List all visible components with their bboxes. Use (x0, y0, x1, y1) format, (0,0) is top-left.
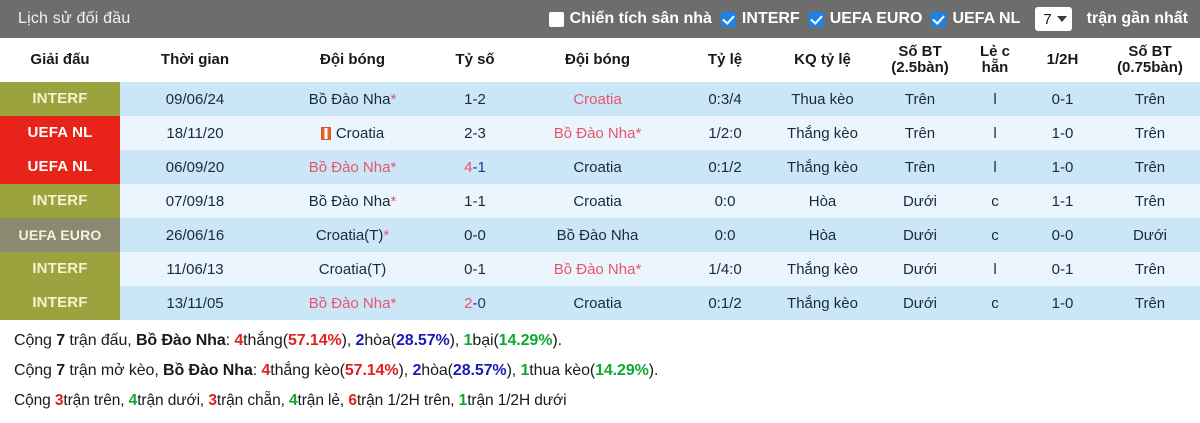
cell-odds-result: Hòa (770, 218, 875, 252)
score-away: -1 (473, 159, 486, 176)
s3-prefix: Cộng (14, 392, 55, 409)
table-row[interactable]: INTERF09/06/24Bồ Đào Nha*1-2Croatia0:3/4… (0, 82, 1200, 116)
table-header-row: Giải đấu Thời gian Đội bóng Tỷ số Đội bó… (0, 38, 1200, 82)
cell-total-goals-075: Dưới (1100, 218, 1200, 252)
league-badge: INTERF (0, 184, 120, 218)
cell-odds: 0:3/4 (680, 82, 770, 116)
col-header-away: Đội bóng (515, 38, 680, 82)
checkbox-interf[interactable] (721, 12, 736, 27)
s3-under-count: 4 (129, 392, 138, 409)
s1-total: 7 (56, 332, 65, 349)
filter-interf[interactable]: INTERF (721, 10, 800, 28)
s2-sep2: ), (507, 362, 521, 379)
s1-loss-pct: 14.29% (499, 332, 553, 349)
cell-odds: 0:0 (680, 184, 770, 218)
cell-total-goals-075: Trên (1100, 116, 1200, 150)
s2-team: Bồ Đào Nha (163, 362, 253, 379)
home-team-name: Croatia(T) (319, 261, 387, 278)
summary-line-totals: Cộng 3trận trên, 4trận dưới, 3trận chẵn,… (14, 386, 1200, 416)
filter-uefa-nl[interactable]: UEFA NL (931, 10, 1020, 28)
away-team-name: Croatia (573, 159, 621, 176)
cell-league: INTERF (0, 82, 120, 116)
cell-league: UEFA EURO (0, 218, 120, 252)
s2-wins-pct: 57.14% (345, 362, 399, 379)
s3-over-label: trận trên, (63, 392, 128, 409)
cell-league: INTERF (0, 286, 120, 320)
league-badge: INTERF (0, 252, 120, 286)
s2-mid: trận mở kèo, (65, 362, 163, 379)
col-header-league: Giải đấu (0, 38, 120, 82)
cell-time: 13/11/05 (120, 286, 270, 320)
cell-total-goals-25: Dưới (875, 218, 965, 252)
cell-odds: 1/2:0 (680, 116, 770, 150)
home-host-star-icon: * (390, 193, 396, 210)
filter-label-interf: INTERF (742, 10, 800, 28)
s1-prefix: Cộng (14, 332, 56, 349)
col-header-time: Thời gian (120, 38, 270, 82)
s2-total: 7 (56, 362, 65, 379)
s1-draws-label: hòa( (364, 332, 396, 349)
s1-mid: trận đấu, (65, 332, 136, 349)
s3-halfunder-count: 1 (459, 392, 468, 409)
cell-total-goals-075: Trên (1100, 150, 1200, 184)
cell-score: 1-1 (435, 184, 515, 218)
away-team-name: Croatia (573, 193, 621, 210)
cell-total-goals-075: Trên (1100, 184, 1200, 218)
cell-odds-result: Hòa (770, 184, 875, 218)
cell-score: 0-1 (435, 252, 515, 286)
s1-sep2: ), (450, 332, 464, 349)
cell-odds-result: Thắng kèo (770, 286, 875, 320)
cell-away-team[interactable]: Croatia (515, 184, 680, 218)
cell-odd-even: l (965, 252, 1025, 286)
s1-wins-count: 4 (234, 332, 243, 349)
filter-label-home-record: Chiến tích sân nhà (570, 10, 712, 28)
s1-loss-label: bại( (472, 332, 498, 349)
filter-uefa-euro[interactable]: UEFA EURO (809, 10, 923, 28)
cell-score: 2-3 (435, 116, 515, 150)
match-count-suffix: trận gần nhất (1087, 10, 1188, 28)
cell-away-team[interactable]: Croatia (515, 286, 680, 320)
cell-home-team[interactable]: Bồ Đào Nha* (270, 286, 435, 320)
home-team-name: Croatia (336, 125, 384, 142)
home-team-name: Bồ Đào Nha (309, 159, 391, 176)
croatia-flag-icon (321, 127, 331, 140)
away-host-star-icon: * (635, 125, 641, 142)
s3-even-count: 3 (208, 392, 217, 409)
s1-wins-pct: 57.14% (288, 332, 342, 349)
away-team-name: Bồ Đào Nha (554, 125, 636, 142)
score-home: 2 (464, 295, 472, 312)
s1-wins-label: thắng( (243, 332, 288, 349)
col-header-oddeven: Lẻ c hẵn (965, 38, 1025, 82)
s3-even-label: trận chẵn, (217, 392, 289, 409)
s2-end: ). (649, 362, 659, 379)
cell-odds-result: Thắng kèo (770, 150, 875, 184)
cell-half-time: 1-0 (1025, 150, 1100, 184)
cell-half-time: 0-1 (1025, 252, 1100, 286)
s2-wins-count: 4 (261, 362, 270, 379)
col-header-bt25: Số BT (2.5bàn) (875, 38, 965, 82)
table-row[interactable]: INTERF11/06/13Croatia(T)0-1Bồ Đào Nha*1/… (0, 252, 1200, 286)
s3-halfover-count: 6 (348, 392, 357, 409)
cell-odds: 0:0 (680, 218, 770, 252)
away-host-star-icon: * (635, 261, 641, 278)
cell-league: UEFA NL (0, 116, 120, 150)
checkbox-uefa-nl[interactable] (931, 12, 946, 27)
s3-halfover-label: trận 1/2H trên, (357, 392, 459, 409)
cell-time: 18/11/20 (120, 116, 270, 150)
s2-wins-label: thắng kèo( (270, 362, 345, 379)
cell-away-team[interactable]: Bồ Đào Nha* (515, 116, 680, 150)
cell-score: 2-0 (435, 286, 515, 320)
s2-loss-pct: 14.29% (595, 362, 649, 379)
match-count-select[interactable]: 7 (1035, 7, 1071, 31)
away-team-name: Croatia (573, 295, 621, 312)
col-header-score: Tỷ số (435, 38, 515, 82)
summary-line-odds: Cộng 7 trận mở kèo, Bồ Đào Nha: 4thắng k… (14, 356, 1200, 386)
away-team-name: Bồ Đào Nha (557, 227, 639, 244)
cell-odds: 0:1/2 (680, 150, 770, 184)
cell-odd-even: l (965, 116, 1025, 150)
away-team-name: Croatia (573, 91, 621, 108)
checkbox-uefa-euro[interactable] (809, 12, 824, 27)
home-team-name: Bồ Đào Nha (309, 193, 391, 210)
cell-odd-even: c (965, 218, 1025, 252)
cell-score: 1-2 (435, 82, 515, 116)
cell-total-goals-075: Trên (1100, 286, 1200, 320)
cell-time: 07/09/18 (120, 184, 270, 218)
table-row[interactable]: UEFA NL18/11/20Croatia2-3Bồ Đào Nha*1/2:… (0, 116, 1200, 150)
col-header-home: Đội bóng (270, 38, 435, 82)
home-host-star-icon: * (383, 227, 389, 244)
cell-odds: 0:1/2 (680, 286, 770, 320)
cell-odds-result: Thắng kèo (770, 252, 875, 286)
cell-away-team[interactable]: Bồ Đào Nha (515, 218, 680, 252)
checkbox-home-record[interactable] (549, 12, 564, 27)
cell-total-goals-25: Dưới (875, 286, 965, 320)
cell-home-team[interactable]: Croatia (270, 116, 435, 150)
h2h-toolbar: Lịch sử đối đầu Chiến tích sân nhà INTER… (0, 0, 1200, 38)
col-header-odds: Tỷ lệ (680, 38, 770, 82)
cell-total-goals-075: Trên (1100, 82, 1200, 116)
s2-loss-label: thua kèo( (529, 362, 595, 379)
cell-total-goals-075: Trên (1100, 252, 1200, 286)
league-badge: INTERF (0, 286, 120, 320)
match-count-value: 7 (1043, 11, 1051, 28)
s2-draws-pct: 28.57% (453, 362, 507, 379)
cell-league: INTERF (0, 184, 120, 218)
cell-time: 11/06/13 (120, 252, 270, 286)
cell-half-time: 1-0 (1025, 286, 1100, 320)
table-row[interactable]: UEFA EURO26/06/16Croatia(T)*0-0Bồ Đào Nh… (0, 218, 1200, 252)
cell-home-team[interactable]: Bồ Đào Nha* (270, 150, 435, 184)
league-badge: UEFA NL (0, 150, 120, 184)
home-team-name: Bồ Đào Nha (309, 295, 391, 312)
cell-odds-result: Thua kèo (770, 82, 875, 116)
cell-home-team[interactable]: Croatia(T)* (270, 218, 435, 252)
cell-odd-even: c (965, 184, 1025, 218)
s1-sep1: ), (342, 332, 356, 349)
s1-team: Bồ Đào Nha (136, 332, 226, 349)
cell-odd-even: c (965, 286, 1025, 320)
league-badge: UEFA NL (0, 116, 120, 150)
cell-half-time: 0-1 (1025, 82, 1100, 116)
cell-league: INTERF (0, 252, 120, 286)
s1-draws-pct: 28.57% (396, 332, 450, 349)
home-host-star-icon: * (390, 295, 396, 312)
s3-halfunder-label: trận 1/2H dưới (467, 392, 566, 409)
cell-total-goals-25: Trên (875, 150, 965, 184)
table-row[interactable]: INTERF13/11/05Bồ Đào Nha*2-0Croatia0:1/2… (0, 286, 1200, 320)
filter-label-uefa-nl: UEFA NL (952, 10, 1020, 28)
h2h-table: Giải đấu Thời gian Đội bóng Tỷ số Đội bó… (0, 38, 1200, 320)
home-team-name: Bồ Đào Nha (309, 91, 391, 108)
s2-sep1: ), (399, 362, 413, 379)
table-row[interactable]: UEFA NL06/09/20Bồ Đào Nha*4-1Croatia0:1/… (0, 150, 1200, 184)
h2h-table-body: INTERF09/06/24Bồ Đào Nha*1-2Croatia0:3/4… (0, 82, 1200, 320)
cell-half-time: 1-0 (1025, 116, 1100, 150)
s1-end: ). (552, 332, 562, 349)
cell-total-goals-25: Trên (875, 82, 965, 116)
s2-loss-count: 1 (520, 362, 529, 379)
score-home: 4 (464, 159, 472, 176)
cell-half-time: 0-0 (1025, 218, 1100, 252)
s2-draws-label: hòa( (421, 362, 453, 379)
page-title: Lịch sử đối đầu (18, 10, 130, 28)
cell-total-goals-25: Trên (875, 116, 965, 150)
cell-away-team[interactable]: Bồ Đào Nha* (515, 252, 680, 286)
home-team-name: Croatia(T) (316, 227, 384, 244)
cell-away-team[interactable]: Croatia (515, 150, 680, 184)
cell-away-team[interactable]: Croatia (515, 82, 680, 116)
league-badge: INTERF (0, 82, 120, 116)
cell-home-team[interactable]: Croatia(T) (270, 252, 435, 286)
away-team-name: Bồ Đào Nha (554, 261, 636, 278)
table-row[interactable]: INTERF07/09/18Bồ Đào Nha*1-1Croatia0:0Hò… (0, 184, 1200, 218)
filter-home-record[interactable]: Chiến tích sân nhà (549, 10, 712, 28)
score-away: -0 (473, 295, 486, 312)
s2-prefix: Cộng (14, 362, 56, 379)
cell-odds: 1/4:0 (680, 252, 770, 286)
cell-league: UEFA NL (0, 150, 120, 184)
cell-half-time: 1-1 (1025, 184, 1100, 218)
home-host-star-icon: * (390, 159, 396, 176)
home-host-star-icon: * (390, 91, 396, 108)
s3-odd-count: 4 (289, 392, 298, 409)
cell-time: 26/06/16 (120, 218, 270, 252)
col-header-result: KQ tỷ lệ (770, 38, 875, 82)
cell-score: 0-0 (435, 218, 515, 252)
cell-time: 09/06/24 (120, 82, 270, 116)
cell-total-goals-25: Dưới (875, 252, 965, 286)
s3-odd-label: trận lẻ, (298, 392, 349, 409)
summary-line-matches: Cộng 7 trận đấu, Bồ Đào Nha: 4thắng(57.1… (14, 326, 1200, 356)
cell-odd-even: l (965, 82, 1025, 116)
filter-group: Chiến tích sân nhà INTERF UEFA EURO UEFA… (549, 7, 1188, 31)
s2-draws-count: 2 (412, 362, 421, 379)
chevron-down-icon (1057, 16, 1067, 22)
cell-score: 4-1 (435, 150, 515, 184)
cell-home-team[interactable]: Bồ Đào Nha* (270, 82, 435, 116)
cell-odds-result: Thắng kèo (770, 116, 875, 150)
cell-home-team[interactable]: Bồ Đào Nha* (270, 184, 435, 218)
col-header-half: 1/2H (1025, 38, 1100, 82)
league-badge: UEFA EURO (0, 218, 120, 252)
s3-under-label: trận dưới, (137, 392, 208, 409)
col-header-bt075: Số BT (0.75bàn) (1100, 38, 1200, 82)
cell-time: 06/09/20 (120, 150, 270, 184)
filter-label-uefa-euro: UEFA EURO (830, 10, 923, 28)
cell-total-goals-25: Dưới (875, 184, 965, 218)
cell-odd-even: l (965, 150, 1025, 184)
summary-block: Cộng 7 trận đấu, Bồ Đào Nha: 4thắng(57.1… (0, 320, 1200, 416)
